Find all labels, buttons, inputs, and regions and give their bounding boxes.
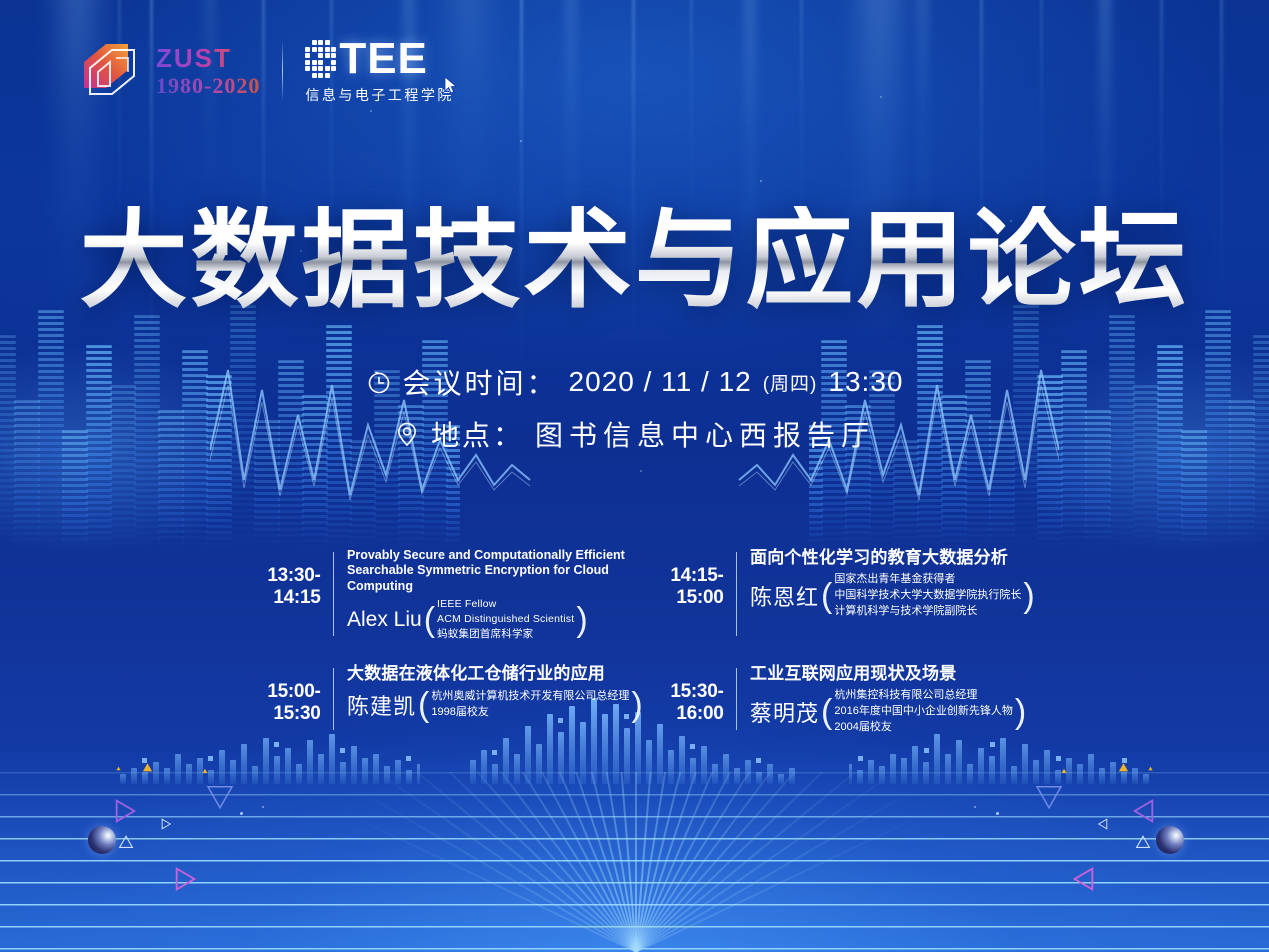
equalizer-bar (340, 762, 346, 784)
triangle-icon (1118, 762, 1129, 773)
equalizer-bar (514, 754, 520, 784)
page-title: 大数据技术与应用论坛 (0, 206, 1269, 314)
logo-pixel (325, 40, 330, 45)
triangle-icon (160, 818, 172, 830)
sparkle-dot (262, 806, 264, 808)
speaker-titles: 国家杰出青年基金获得者中国科学技术大学大数据学院执行院长计算机科学与技术学院副院… (834, 572, 1021, 620)
sparkle-dot (760, 180, 762, 182)
equalizer-bar (723, 754, 729, 784)
location-pin-icon (394, 420, 420, 448)
logo-pixel (312, 60, 317, 65)
speaker-titles: IEEE FellowACM Distinguished Scientist蚂蚁… (437, 597, 574, 643)
logo-pixel (318, 53, 323, 58)
schedule-item-topic: 大数据在液体化工仓储行业的应用 (347, 664, 626, 685)
equalizer-bar (1099, 768, 1105, 784)
equalizer-bar (230, 760, 236, 784)
triangle-icon (1131, 798, 1157, 824)
schedule-item-body: 面向个性化学习的教育大数据分析陈恩红(国家杰出青年基金获得者中国科学技术大学大数… (737, 548, 1029, 620)
equalizer-bar (923, 762, 929, 784)
equalizer-bar (745, 760, 751, 784)
metallic-sphere (88, 826, 116, 854)
logo-pixel (318, 66, 323, 71)
zust-cube-logo-icon (80, 40, 142, 102)
schedule-item[interactable]: 15:30-16:00工业互联网应用现状及场景蔡明茂(杭州集控科技有限公司总经理… (644, 664, 1029, 736)
floor-grid-line (397, 772, 636, 952)
schedule-item-topic: Provably Secure and Computationally Effi… (347, 548, 626, 594)
equalizer-bar (767, 764, 773, 784)
logo-pixel (305, 47, 310, 52)
equalizer-bar (1011, 766, 1017, 784)
meeting-time-label: 会议时间： (403, 362, 558, 402)
equalizer-bar (945, 754, 951, 784)
equalizer-bar (470, 760, 476, 784)
equalizer-bar (417, 764, 420, 784)
schedule-item-time: 13:30-14:15 (241, 548, 333, 609)
poster-canvas: ZUST 1980-2020 TEE 信息与电子工程学院 大数据技术与应用论坛 (0, 0, 1269, 952)
schedule-row: 13:30-14:15Provably Secure and Computati… (0, 548, 1269, 642)
clock-icon (366, 369, 392, 395)
logo-pixel (325, 47, 330, 52)
schedule-item[interactable]: 14:15-15:00面向个性化学习的教育大数据分析陈恩红(国家杰出青年基金获得… (644, 548, 1029, 642)
paren-open: ( (422, 603, 437, 637)
paren-open: ( (819, 695, 834, 729)
equalizer-bar (989, 756, 995, 784)
equalizer-bar (879, 766, 885, 784)
logo-pixel (325, 73, 330, 78)
equalizer-bar (967, 764, 973, 784)
logo-pixel (312, 40, 317, 45)
logo-divider (282, 40, 283, 102)
zust-logo: ZUST 1980-2020 (80, 40, 260, 102)
equalizer-bar (1088, 754, 1094, 784)
schedule-item-body: Provably Secure and Computationally Effi… (334, 548, 626, 642)
equalizer-dot (756, 758, 761, 763)
paren-close: ) (629, 688, 644, 722)
triangle-icon (1135, 834, 1151, 850)
speaker-name: 陈恩红 (750, 580, 819, 612)
sparkle-dot (974, 806, 976, 808)
equalizer-bar (734, 768, 740, 784)
schedule-item-time: 15:00-15:30 (241, 664, 333, 725)
meeting-place-value: 图书信息中心西报告厅 (535, 414, 875, 454)
speaker-name: 陈建凯 (347, 689, 416, 721)
logo-pixel (325, 66, 330, 71)
itee-subtitle: 信息与电子工程学院 (305, 85, 454, 105)
triangle-icon (142, 762, 153, 773)
logo-pixel (331, 40, 336, 45)
meeting-info: 会议时间： 2020 / 11 / 12 (周四) 13:30 地点： 图书信息… (0, 362, 1269, 466)
logo-pixel (331, 53, 336, 58)
meeting-place-label: 地点： (431, 414, 524, 454)
speaker-titles: 杭州集控科技有限公司总经理2016年度中国中小企业创新先锋人物2004届校友 (834, 688, 1012, 736)
sparkle-dot (520, 140, 522, 142)
logo-pixel (305, 40, 310, 45)
equalizer-bar (164, 768, 170, 784)
schedule-item-time: 14:15-15:00 (644, 548, 736, 609)
equalizer-bar (756, 772, 762, 784)
logo-pixel (318, 73, 323, 78)
sparkle-dot (240, 812, 243, 815)
equalizer-bar (1143, 774, 1149, 784)
paren-open: ( (819, 579, 834, 613)
sparkle-dot (880, 96, 882, 98)
pixel-i-icon (305, 40, 336, 78)
schedule-list: 13:30-14:15Provably Secure and Computati… (0, 548, 1269, 758)
schedule-item[interactable]: 13:30-14:15Provably Secure and Computati… (241, 548, 626, 642)
logo-pixel (318, 47, 323, 52)
triangle-icon (112, 798, 138, 824)
equalizer-bar (1033, 760, 1039, 784)
schedule-item[interactable]: 15:00-15:30大数据在液体化工仓储行业的应用陈建凯(杭州奥威计算机技术开… (241, 664, 626, 736)
equalizer-bar (901, 758, 907, 784)
paren-close: ) (1013, 695, 1028, 729)
speaker-name: Alex Liu (347, 608, 422, 632)
schedule-item-body: 工业互联网应用现状及场景蔡明茂(杭州集控科技有限公司总经理2016年度中国中小企… (737, 664, 1029, 736)
meeting-place-row: 地点： 图书信息中心西报告厅 (0, 414, 1269, 454)
logo-pixel (305, 60, 310, 65)
schedule-item-speaker: 陈建凯(杭州奥威计算机技术开发有限公司总经理1998届校友) (347, 688, 626, 722)
schedule-item-topic: 面向个性化学习的教育大数据分析 (750, 548, 1029, 569)
logo-pixel (331, 60, 336, 65)
equalizer-bar (712, 764, 718, 784)
equalizer-bar (131, 768, 137, 784)
equalizer-bar (868, 760, 874, 784)
triangle-icon (116, 766, 121, 771)
speaker-name: 蔡明茂 (750, 696, 819, 728)
equalizer-bar (120, 774, 126, 784)
logo-pixel (305, 53, 310, 58)
schedule-item-speaker: Alex Liu(IEEE FellowACM Distinguished Sc… (347, 597, 626, 643)
schedule-row: 15:00-15:30大数据在液体化工仓储行业的应用陈建凯(杭州奥威计算机技术开… (0, 664, 1269, 736)
schedule-item-body: 大数据在液体化工仓储行业的应用陈建凯(杭州奥威计算机技术开发有限公司总经理199… (334, 664, 626, 722)
logo-pixel (318, 60, 323, 65)
equalizer-bar (175, 754, 181, 784)
meeting-weekday: (周四) (763, 369, 818, 396)
logo-pixel (331, 73, 336, 78)
equalizer-bar (778, 774, 784, 784)
logo-pixel (312, 53, 317, 58)
triangle-icon (1061, 768, 1067, 774)
metallic-sphere (1156, 826, 1184, 854)
equalizer-bar (373, 754, 379, 784)
logo-pixel (312, 66, 317, 71)
triangle-icon (118, 834, 134, 850)
equalizer-bar (890, 754, 896, 784)
equalizer-bar (1110, 762, 1116, 784)
zust-name: ZUST (156, 45, 260, 71)
equalizer-bar (690, 758, 696, 784)
paren-close: ) (574, 603, 589, 637)
equalizer-bar (362, 758, 368, 784)
logo-pixel (312, 47, 317, 52)
logo-pixel (305, 73, 310, 78)
triangle-icon (1071, 866, 1097, 892)
triangle-icon (1097, 818, 1109, 830)
equalizer-bar (318, 754, 324, 784)
logo-pixel (331, 47, 336, 52)
equalizer-bar (153, 762, 159, 784)
itee-logo: TEE 信息与电子工程学院 (305, 38, 454, 105)
sparkle-dot (640, 470, 642, 472)
equalizer-bar (849, 764, 852, 784)
header-logos: ZUST 1980-2020 TEE 信息与电子工程学院 (80, 38, 454, 105)
schedule-item-topic: 工业互联网应用现状及场景 (750, 664, 1029, 685)
logo-pixel (325, 60, 330, 65)
equalizer-bar (274, 756, 280, 784)
sparkle-dot (996, 812, 999, 815)
equalizer-bar (186, 764, 192, 784)
equalizer-bar (492, 764, 498, 784)
schedule-item-speaker: 陈恩红(国家杰出青年基金获得者中国科学技术大学大数据学院执行院长计算机科学与技术… (750, 572, 1029, 620)
sparkle-dot (370, 110, 372, 112)
equalizer-bar (252, 766, 258, 784)
speaker-titles: 杭州奥威计算机技术开发有限公司总经理1998届校友 (431, 689, 629, 721)
equalizer-bar (857, 770, 863, 784)
cursor-arrow-icon (444, 76, 458, 94)
perspective-floor-verticals (0, 772, 1269, 952)
triangle-icon (1148, 766, 1153, 771)
meeting-clock: 13:30 (828, 366, 903, 398)
equalizer-bar (406, 770, 412, 784)
logo-pixel (312, 73, 317, 78)
equalizer-bar (789, 768, 795, 784)
logo-pixel (325, 53, 330, 58)
schedule-item-time: 15:30-16:00 (644, 664, 736, 725)
paren-open: ( (416, 688, 431, 722)
triangle-icon (205, 782, 235, 812)
paren-close: ) (1021, 579, 1036, 613)
meeting-date: 2020 / 11 / 12 (569, 366, 752, 398)
itee-name: TEE (339, 38, 428, 80)
triangle-icon (202, 768, 208, 774)
floor-grid-line (635, 772, 874, 952)
equalizer-bar (1077, 764, 1083, 784)
equalizer-bar (395, 760, 401, 784)
logo-pixel (305, 66, 310, 71)
zust-years: 1980-2020 (156, 75, 260, 97)
equalizer-bar (1132, 768, 1138, 784)
meeting-time-row: 会议时间： 2020 / 11 / 12 (周四) 13:30 (0, 362, 1269, 402)
logo-pixel (318, 40, 323, 45)
equalizer-bar (142, 772, 148, 784)
equalizer-bar (296, 764, 302, 784)
equalizer-bar (384, 766, 390, 784)
triangle-icon (172, 866, 198, 892)
light-beam (205, 0, 215, 210)
equalizer-bar (1121, 772, 1127, 784)
triangle-icon (1034, 782, 1064, 812)
schedule-item-speaker: 蔡明茂(杭州集控科技有限公司总经理2016年度中国中小企业创新先锋人物2004届… (750, 688, 1029, 736)
logo-pixel (331, 66, 336, 71)
